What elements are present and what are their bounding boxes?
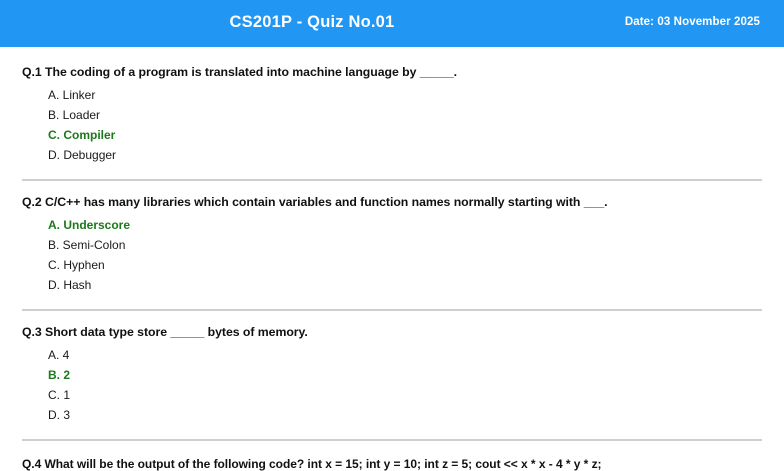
option-2-d[interactable]: D. Hash <box>48 275 762 295</box>
option-1-d[interactable]: D. Debugger <box>48 145 762 165</box>
option-3-c[interactable]: C. 1 <box>48 385 762 405</box>
option-2-b[interactable]: B. Semi-Colon <box>48 235 762 255</box>
option-3-d[interactable]: D. 3 <box>48 405 762 425</box>
option-2-a[interactable]: A. Underscore <box>48 215 762 235</box>
quiz-date: Date: 03 November 2025 <box>625 16 760 28</box>
question-block-1: Q.1 The coding of a program is translate… <box>0 47 784 165</box>
option-1-c[interactable]: C. Compiler <box>48 125 762 145</box>
option-3-b[interactable]: B. 2 <box>48 365 762 385</box>
options-list-1: A. Linker B. Loader C. Compiler D. Debug… <box>22 79 762 165</box>
quiz-questions-list: Q.1 The coding of a program is translate… <box>0 47 784 471</box>
options-list-3: A. 4 B. 2 C. 1 D. 3 <box>22 339 762 425</box>
options-list-2: A. Underscore B. Semi-Colon C. Hyphen D.… <box>22 209 762 295</box>
option-1-b[interactable]: B. Loader <box>48 105 762 125</box>
question-block-4: Q.4 What will be the output of the follo… <box>0 443 784 471</box>
question-block-3: Q.3 Short data type store _____ bytes of… <box>0 311 784 425</box>
quiz-header-band: CS201P - Quiz No.01 Date: 03 November 20… <box>0 0 784 47</box>
question-text-4: Q.4 What will be the output of the follo… <box>22 443 762 471</box>
option-1-a[interactable]: A. Linker <box>48 85 762 105</box>
option-3-a[interactable]: A. 4 <box>48 345 762 365</box>
question-text-1: Q.1 The coding of a program is translate… <box>22 47 762 79</box>
question-block-2: Q.2 C/C++ has many libraries which conta… <box>0 181 784 295</box>
question-text-3: Q.3 Short data type store _____ bytes of… <box>22 311 762 339</box>
question-text-2: Q.2 C/C++ has many libraries which conta… <box>22 181 762 209</box>
option-2-c[interactable]: C. Hyphen <box>48 255 762 275</box>
